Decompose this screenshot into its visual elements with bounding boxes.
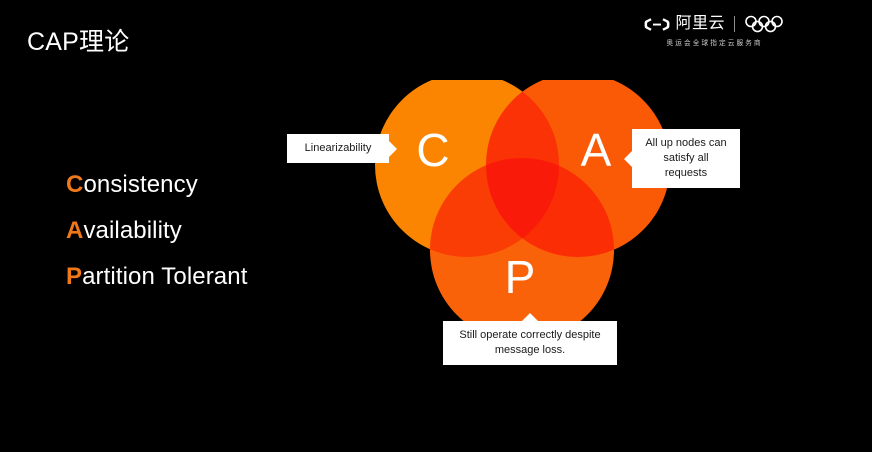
- venn-letter-a: A: [581, 124, 612, 176]
- cap-term-consistency: Consistency: [66, 172, 247, 198]
- cap-venn-diagram: C A P: [355, 80, 685, 335]
- brand-divider: [734, 16, 735, 32]
- cap-rest-p: artition Tolerant: [82, 263, 247, 290]
- cap-rest-c: onsistency: [83, 171, 197, 198]
- callout-partition: Still operate correctly despite message …: [443, 321, 617, 365]
- venn-letter-p: P: [505, 251, 536, 303]
- olympic-rings-icon: [744, 15, 784, 33]
- brand-tagline: 奥运会全球指定云服务商: [666, 38, 762, 48]
- alibaba-cloud-logo-icon: [644, 17, 670, 32]
- brand-row: 阿里云: [644, 14, 784, 34]
- brand-name: 阿里云: [675, 15, 725, 33]
- cap-term-availability: Availability: [66, 218, 247, 244]
- venn-letter-c: C: [416, 124, 449, 176]
- cap-initial-a: A: [66, 217, 83, 244]
- cap-initial-p: P: [66, 263, 82, 290]
- cap-term-partition-tolerant: Partition Tolerant: [66, 264, 247, 290]
- cap-rest-a: vailability: [83, 217, 181, 244]
- cap-initial-c: C: [66, 171, 83, 198]
- cap-term-list: Consistency Availability Partition Toler…: [66, 172, 247, 290]
- slide-canvas: CAP理论 阿里云 奥运会全球指定云服务商: [0, 0, 872, 452]
- callout-availability: All up nodes can satisfy all requests: [632, 129, 740, 188]
- callout-consistency: Linearizability: [287, 134, 389, 163]
- brand-logo: 阿里云 奥运会全球指定云服务商: [644, 14, 784, 48]
- page-title: CAP理论: [27, 22, 129, 58]
